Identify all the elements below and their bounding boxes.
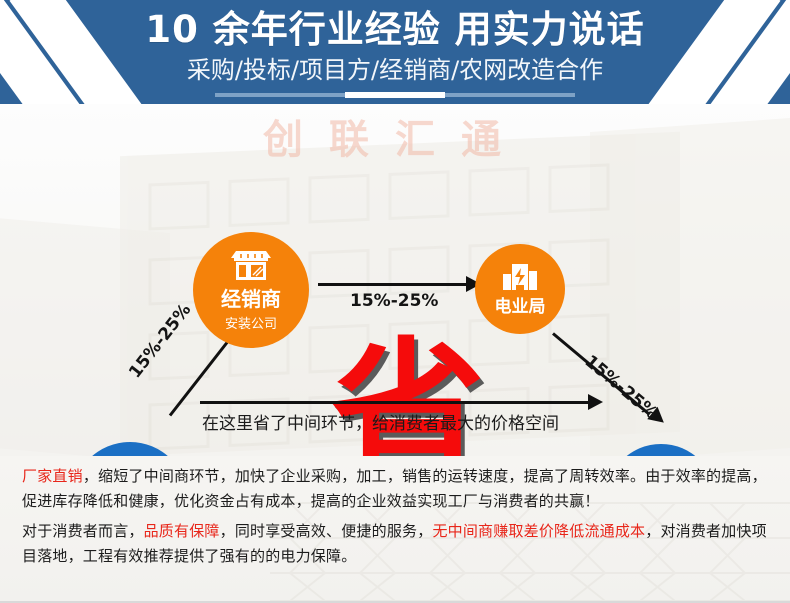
node-dealer-sublabel: 安装公司 — [225, 313, 277, 332]
header-banner: 10 余年行业经验 用实力说话 采购/投标/项目方/经销商/农网改造合作 — [0, 0, 790, 104]
promo-banner-page: 10 余年行业经验 用实力说话 采购/投标/项目方/经销商/农网改造合作 — [0, 0, 790, 603]
flow-diagram: 创联汇通 省 15%-25% 15%-25% 15%-25% 在这里省了中间环节… — [0, 104, 790, 456]
shop-icon — [228, 249, 274, 287]
node-dealer-label: 经销商 — [221, 289, 281, 310]
copy-paragraph-2-mid: ，同时享受高效、便捷的服务， — [220, 522, 433, 540]
power-building-icon — [501, 261, 539, 297]
copy-paragraph-1: 厂家直销，缩短了中间商环节，加快了企业采购，加工，销售的运转速度，提高了周转效率… — [22, 464, 774, 514]
arrow-dealer-to-power — [318, 283, 468, 286]
brand-watermark: 创联汇通 — [0, 107, 790, 165]
node-power-bureau[interactable]: 电业局 — [475, 244, 565, 334]
arrow-label-dealer-to-power: 15%-25% — [350, 291, 438, 311]
saving-character: 省 — [330, 339, 485, 456]
copy-paragraph-2-highlight-2: 无中间商赚取差价降低流通成本 — [432, 522, 645, 540]
copy-paragraph-2-lead: 对于消费者而言， — [22, 522, 144, 540]
marketing-copy-section: 厂家直销，缩短了中间商环节，加快了企业采购，加工，销售的运转速度，提高了周转效率… — [0, 456, 790, 603]
copy-paragraph-1-body: ，缩短了中间商环节，加快了企业采购，加工，销售的运转速度，提高了周转效率。由于效… — [22, 467, 767, 510]
node-power-bureau-label: 电业局 — [495, 299, 546, 317]
header-subtitle: 采购/投标/项目方/经销商/农网改造合作 — [0, 55, 790, 85]
arrow-head-brand-to-consumer — [588, 394, 603, 410]
header-title: 10 余年行业经验 用实力说话 — [0, 8, 790, 52]
copy-paragraph-1-highlight: 厂家直销 — [22, 467, 83, 485]
node-dealer[interactable]: 经销商 安装公司 — [193, 232, 309, 348]
arrow-label-brand-to-consumer: 在这里省了中间环节，给消费者最大的价格空间 — [202, 409, 559, 434]
copy-paragraph-2: 对于消费者而言，品质有保障，同时享受高效、便捷的服务，无中间商赚取差价降低流通成… — [22, 519, 774, 569]
arrow-brand-to-consumer — [200, 401, 590, 404]
header-divider-highlight — [345, 92, 445, 98]
copy-paragraph-2-highlight-1: 品质有保障 — [144, 522, 220, 540]
